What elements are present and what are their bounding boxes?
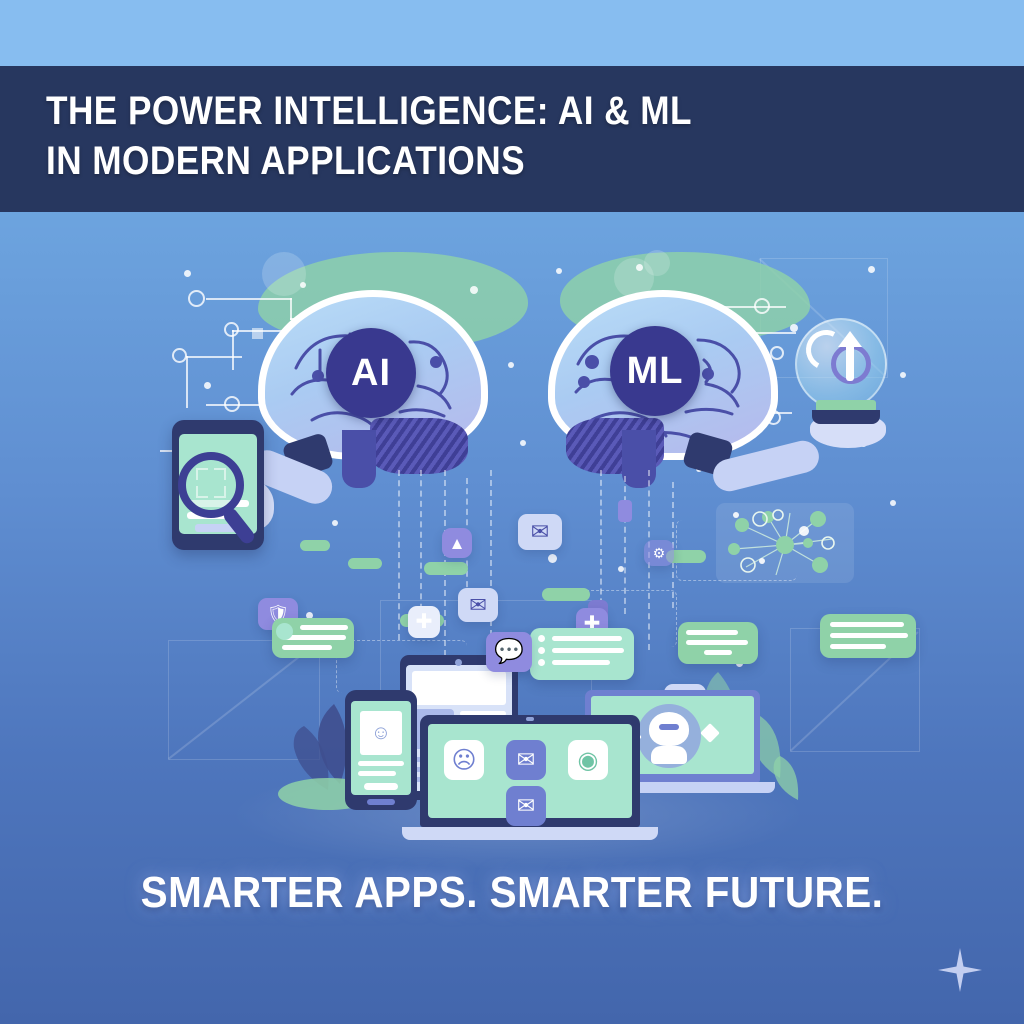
chatbot-body xyxy=(651,746,687,764)
neural-network-graph xyxy=(716,503,854,583)
card-text-line xyxy=(830,622,904,627)
face-scan-icon: ☺ xyxy=(371,722,391,745)
settings-card: ⚙ xyxy=(644,540,674,566)
card-text-line xyxy=(552,636,622,641)
app-tile-mail-1: ✉ xyxy=(506,740,546,780)
poster-canvas: AI xyxy=(0,0,1024,1024)
app-tile-mail-2: ✉ xyxy=(506,786,546,826)
mail-icon-card-left: ✉ xyxy=(458,588,498,622)
page-title-line-1: THE POWER INTELLIGENCE: AI & ML xyxy=(46,86,907,136)
mail-icon: ✉ xyxy=(469,595,487,616)
settings-icon: ⚙ xyxy=(653,546,666,560)
sparkle-dot xyxy=(868,266,875,273)
mail-icon-card-top: ✉ xyxy=(518,514,562,550)
chatbot-face xyxy=(659,724,679,730)
mail-icon: ✉ xyxy=(517,747,535,773)
card-text-line xyxy=(830,633,908,638)
ml-badge: ML xyxy=(610,326,700,416)
ai-brain-stem xyxy=(342,430,376,488)
laptop-main-screen: ☹ ✉ ◉ ✉ xyxy=(428,724,632,818)
phone-home-indicator xyxy=(367,799,395,805)
magnifier-icon xyxy=(178,452,244,518)
tablet-camera xyxy=(455,659,462,666)
up-arrow-icon xyxy=(846,335,854,381)
laptop-camera xyxy=(526,717,534,721)
card-text-line xyxy=(686,630,738,635)
chat-card-left xyxy=(272,618,354,658)
sparkle-dot xyxy=(300,282,306,288)
rocket-icon-card: ▲ xyxy=(442,528,472,558)
circuit-node xyxy=(188,290,205,307)
circuit-node xyxy=(224,396,240,412)
sparkle-dot xyxy=(332,520,338,526)
card-text-line xyxy=(282,645,332,650)
title-banner: THE POWER INTELLIGENCE: AI & ML IN MODER… xyxy=(0,66,1024,212)
circuit-node xyxy=(790,324,798,332)
chat-bubble-icon: 💬 xyxy=(494,640,524,664)
phone-text-line xyxy=(358,771,396,776)
card-bullet xyxy=(538,635,545,642)
data-pill xyxy=(618,500,632,522)
sparkle-dot xyxy=(184,270,191,277)
orb-base-navy xyxy=(812,410,880,424)
page-title-line-2: IN MODERN APPLICATIONS xyxy=(46,136,907,186)
rocket-icon: ▲ xyxy=(449,535,466,552)
tablet-header xyxy=(412,671,506,705)
circuit-trace xyxy=(186,356,188,408)
phone-screen: ☺ xyxy=(351,701,411,795)
medical-plus-icon: ✚ xyxy=(416,612,433,632)
card-avatar xyxy=(276,623,293,640)
data-pill xyxy=(542,588,590,601)
chat-card-right xyxy=(678,622,758,664)
tagline: SMARTER APPS. SMARTER FUTURE. xyxy=(41,868,983,918)
data-pill xyxy=(300,540,330,551)
ai-cerebellum xyxy=(370,418,468,474)
sparkle-dot xyxy=(548,554,557,563)
data-pill xyxy=(424,562,468,575)
chatbot-arm-right xyxy=(700,723,720,743)
mail-icon: ✉ xyxy=(531,521,549,543)
circuit-trace xyxy=(186,356,242,358)
emoji-face-icon: ☹ xyxy=(451,746,476,775)
phone-text-line xyxy=(358,761,404,766)
chat-bubble-overlay: 💬 xyxy=(486,632,532,672)
phone-button xyxy=(364,783,398,790)
mail-icon: ✉ xyxy=(517,793,535,819)
card-text-line xyxy=(704,650,732,655)
card-text-line xyxy=(830,644,886,649)
data-pill xyxy=(348,558,382,569)
card-text-line xyxy=(300,625,348,630)
circuit-node xyxy=(224,322,239,337)
circuit-node xyxy=(172,348,187,363)
data-stream xyxy=(420,470,422,620)
neural-network-panel xyxy=(716,503,854,583)
ml-brain-stem xyxy=(622,430,656,488)
globe-icon: ◉ xyxy=(578,746,599,775)
sparkle-dot xyxy=(636,264,643,271)
medical-plus-card-left: ✚ xyxy=(408,606,440,638)
card-text-line xyxy=(686,640,748,645)
data-stream xyxy=(398,470,400,640)
laptop-main-lid: ☹ ✉ ◉ ✉ xyxy=(420,715,640,827)
sparkle-dot xyxy=(556,268,562,274)
soft-circle-c xyxy=(644,250,670,276)
sparkle-dot xyxy=(890,500,896,506)
sparkle-dot xyxy=(900,372,906,378)
smartphone-device: ☺ xyxy=(345,690,417,810)
chat-card-far-right xyxy=(820,614,916,658)
sparkle-dot xyxy=(508,362,514,368)
app-tile-emoji: ☹ xyxy=(444,740,484,780)
face-scan-card: ☺ xyxy=(360,711,402,755)
app-tile-globe: ◉ xyxy=(568,740,608,780)
sparkle-icon xyxy=(938,948,982,992)
circuit-node xyxy=(204,382,211,389)
sparkle-dot xyxy=(520,440,526,446)
top-accent-strip xyxy=(0,0,1024,66)
laptop-main-device: ☹ ✉ ◉ ✉ xyxy=(420,715,640,845)
ai-badge: AI xyxy=(326,328,416,418)
laptop-main-base xyxy=(402,827,658,840)
